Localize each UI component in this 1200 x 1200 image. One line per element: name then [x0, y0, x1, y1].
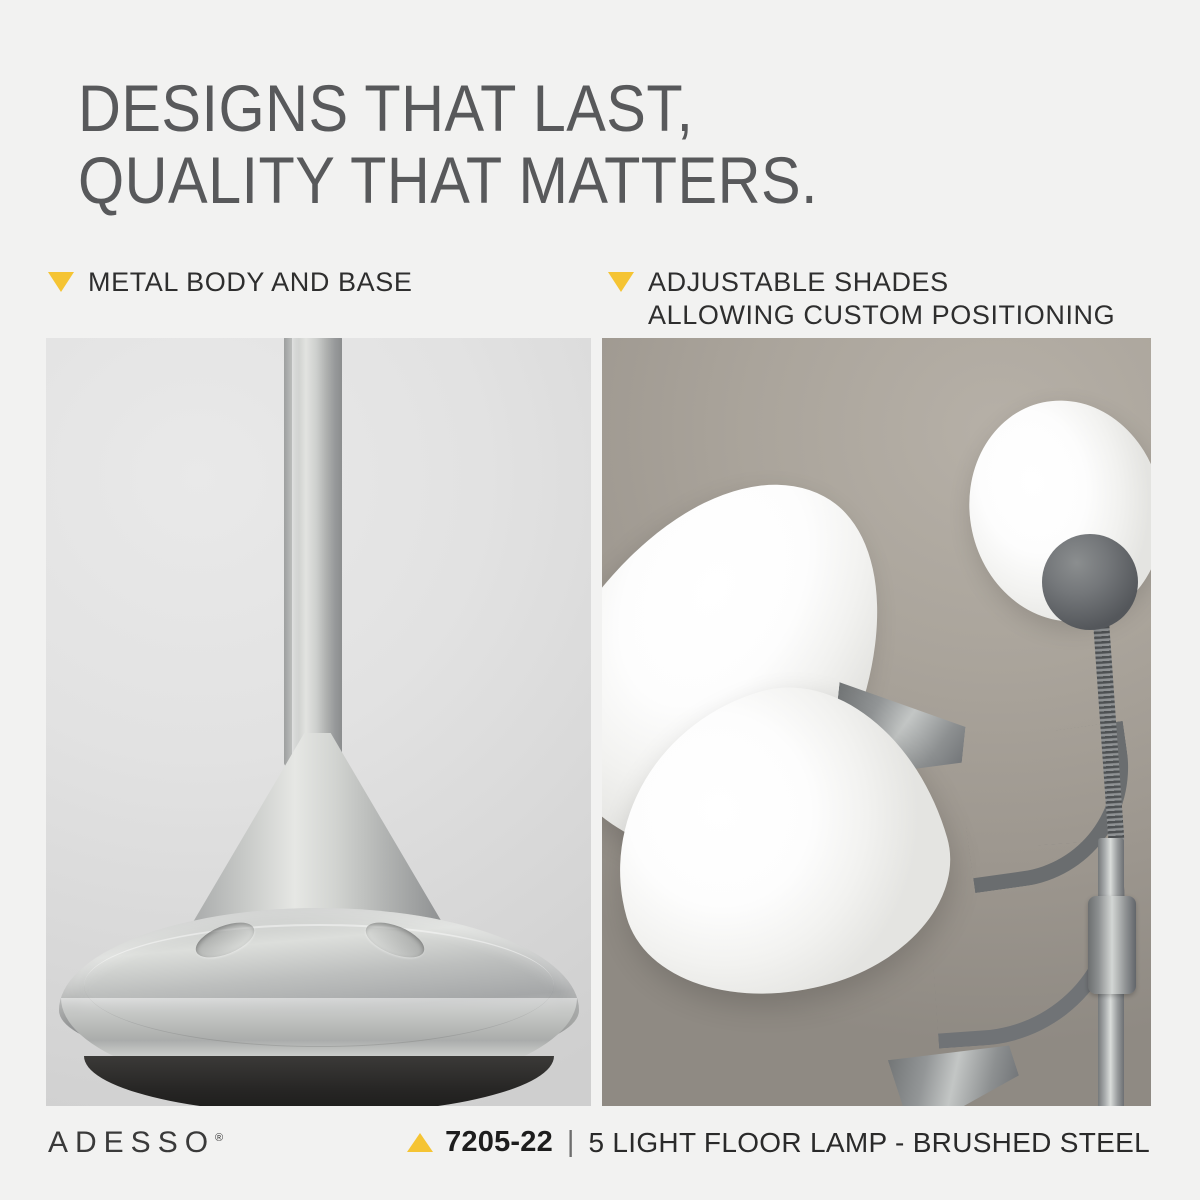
product-photo-adjustable-shades	[602, 338, 1151, 1106]
lamp-pole	[284, 338, 342, 766]
product-photo-lamp-base	[46, 338, 591, 1106]
triangle-up-icon	[407, 1133, 433, 1152]
triangle-down-icon	[48, 272, 74, 292]
brand-logo: ADESSO®	[48, 1126, 223, 1160]
feature-label-group: METAL BODY AND BASE	[88, 266, 413, 299]
headline-line-2: QUALITY THAT MATTERS.	[78, 144, 1032, 216]
footer-bar: ADESSO® 7205-22 | 5 LIGHT FLOOR LAMP - B…	[0, 1118, 1200, 1180]
product-identifier: 7205-22 | 5 LIGHT FLOOR LAMP - BRUSHED S…	[407, 1126, 1150, 1159]
lamp-socket-rear	[1042, 534, 1138, 630]
registered-trademark-icon: ®	[215, 1132, 223, 1144]
feature-label-group: ADJUSTABLE SHADES ALLOWING CUSTOM POSITI…	[648, 266, 1115, 332]
page-title: DESIGNS THAT LAST, QUALITY THAT MATTERS.	[78, 72, 1138, 216]
feature-label-line-1: METAL BODY AND BASE	[88, 266, 413, 299]
pole-collar-ferrule	[1088, 896, 1136, 994]
product-name: 5 LIGHT FLOOR LAMP - BRUSHED STEEL	[588, 1127, 1150, 1159]
feature-callout-metal-body: METAL BODY AND BASE	[48, 266, 413, 299]
lamp-base-ring-highlight	[84, 924, 554, 1047]
headline-line-1: DESIGNS THAT LAST,	[78, 72, 1032, 144]
sku-separator: |	[567, 1126, 575, 1159]
feature-callout-adjustable-shades: ADJUSTABLE SHADES ALLOWING CUSTOM POSITI…	[608, 266, 1115, 332]
triangle-down-icon	[608, 272, 634, 292]
sku-code: 7205-22	[445, 1126, 553, 1159]
feature-label-line-1: ADJUSTABLE SHADES	[648, 266, 1115, 299]
brand-logo-text: ADESSO	[48, 1126, 215, 1159]
feature-label-line-2: ALLOWING CUSTOM POSITIONING	[648, 299, 1115, 332]
